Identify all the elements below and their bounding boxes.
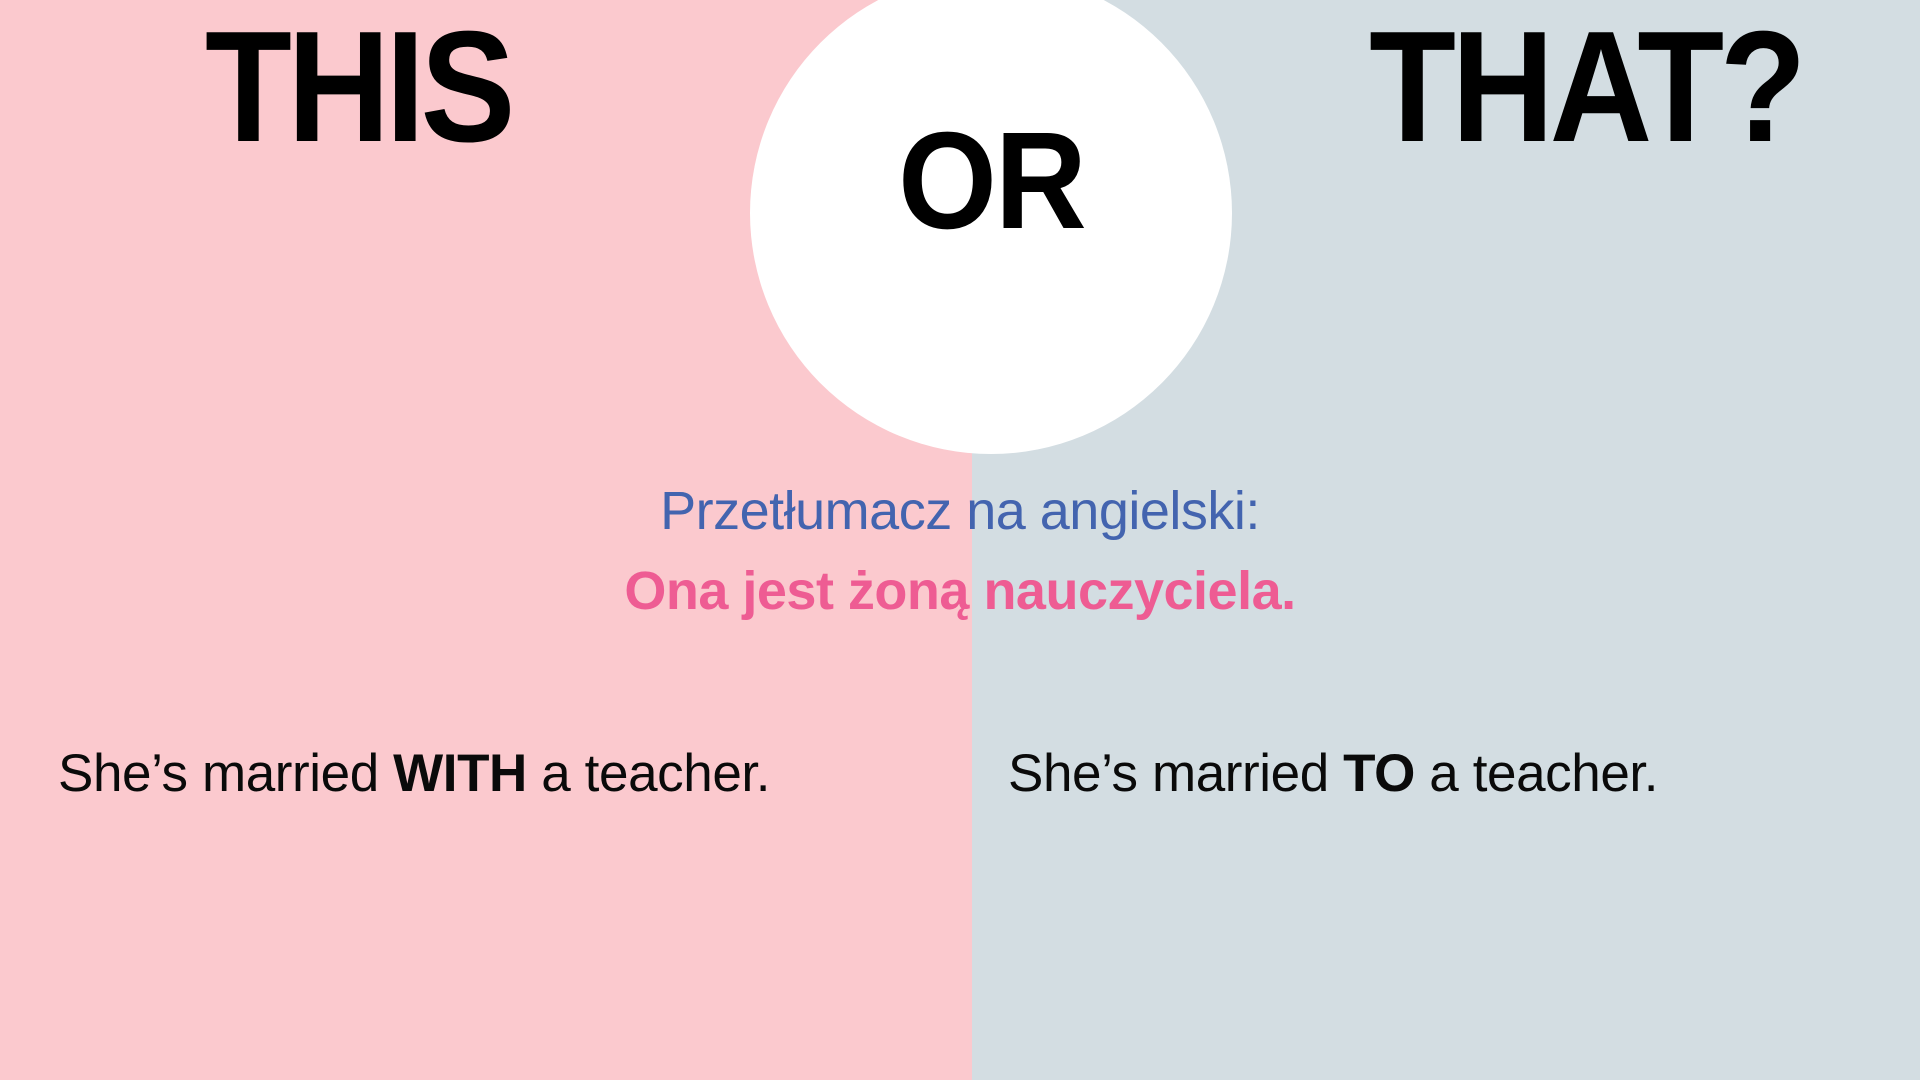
left-answer-sentence[interactable]: She’s married WITH a teacher. bbox=[58, 742, 770, 806]
right-answer-suffix: a teacher. bbox=[1415, 744, 1658, 803]
right-answer-emphasis: TO bbox=[1343, 744, 1415, 803]
left-option-heading: THIS bbox=[205, 8, 511, 166]
prompt-block: Przetłumacz na angielski: Ona jest żoną … bbox=[0, 480, 1920, 623]
right-answer-prefix: She’s married bbox=[1008, 744, 1343, 803]
left-answer-prefix: She’s married bbox=[58, 744, 393, 803]
prompt-sentence: Ona jest żoną nauczyciela. bbox=[0, 560, 1920, 624]
left-answer-suffix: a teacher. bbox=[527, 744, 770, 803]
prompt-instruction: Przetłumacz na angielski: bbox=[0, 480, 1920, 544]
left-answer-emphasis: WITH bbox=[393, 744, 527, 803]
right-answer-sentence[interactable]: She’s married TO a teacher. bbox=[1008, 742, 1658, 806]
slide-canvas: THIS THAT? OR Przetłumacz na angielski: … bbox=[0, 0, 1920, 1080]
or-divider-label: OR bbox=[898, 112, 1085, 250]
right-option-heading: THAT? bbox=[1369, 8, 1802, 166]
